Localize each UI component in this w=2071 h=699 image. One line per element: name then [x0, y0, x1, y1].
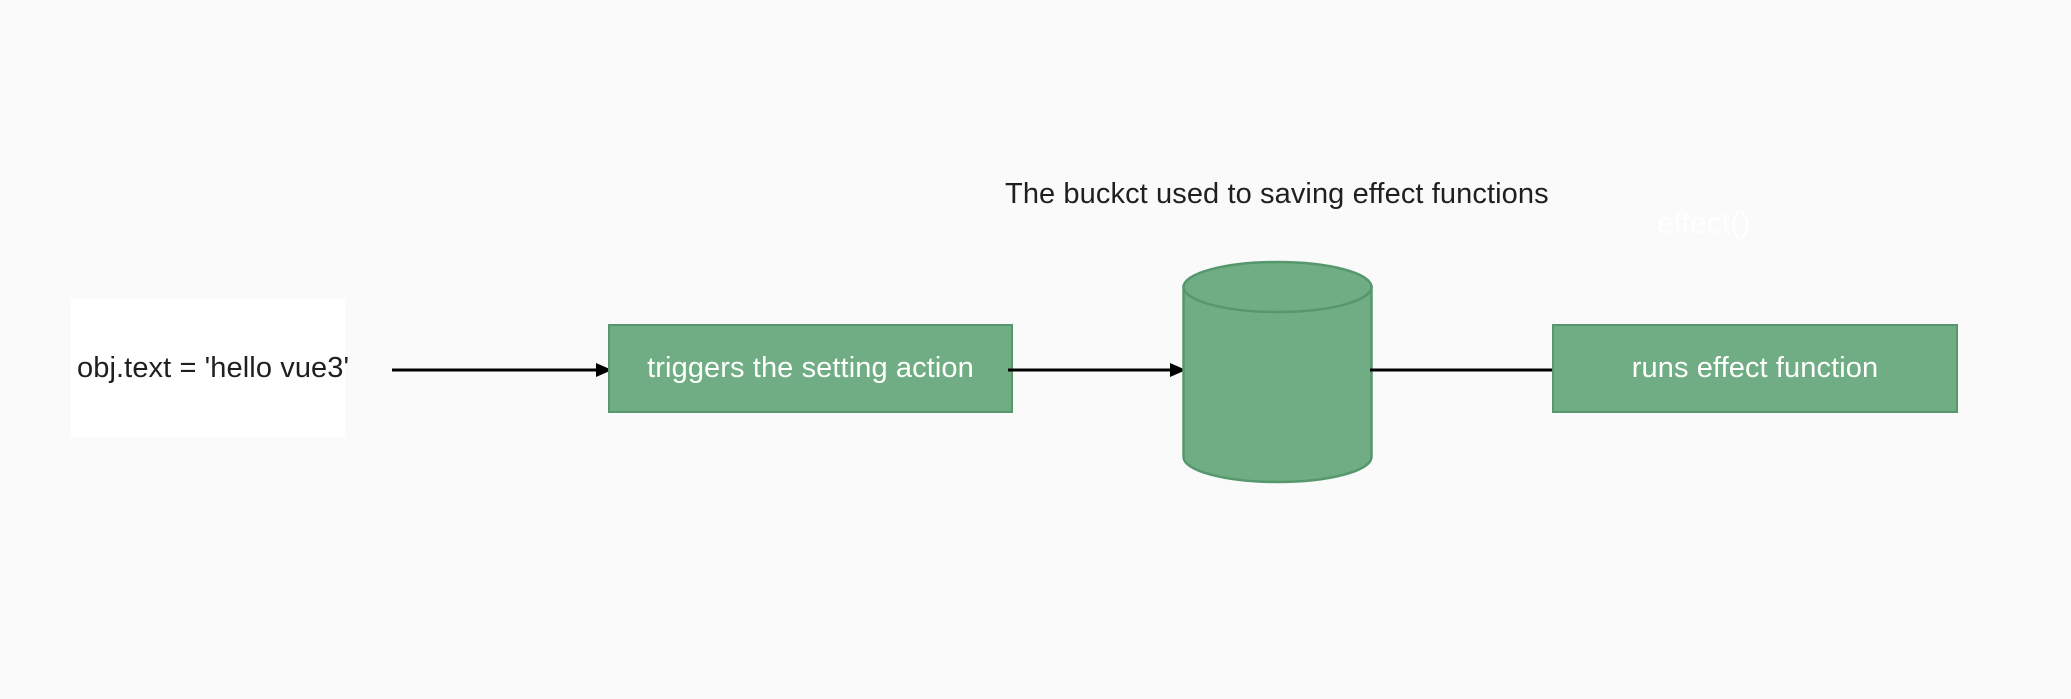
- cylinder-icon: [1182, 262, 1373, 482]
- node-source-label: obj.text = 'hello vue3': [77, 352, 349, 385]
- caption-bucket-description: The buckct used to saving effect functio…: [1005, 178, 1549, 211]
- connector-bucket-to-runs: [1370, 358, 1556, 382]
- cylinder-body: [1184, 287, 1372, 482]
- node-source-assignment[interactable]: obj.text = 'hello vue3': [71, 298, 345, 438]
- node-bucket-cylinder[interactable]: [1182, 262, 1373, 482]
- caption-effect-function: effect(): [1657, 207, 1751, 241]
- cylinder-top: [1184, 262, 1372, 312]
- node-trigger-label: triggers the setting action: [647, 352, 974, 385]
- node-triggers-setting-action[interactable]: triggers the setting action: [608, 324, 1013, 413]
- connector-source-to-trigger: [392, 358, 612, 382]
- diagram-canvas: obj.text = 'hello vue3' triggers the set…: [0, 0, 2071, 699]
- connector-trigger-to-bucket: [1008, 358, 1186, 382]
- node-runs-effect-function[interactable]: runs effect function: [1552, 324, 1958, 413]
- node-runs-label: runs effect function: [1632, 352, 1879, 385]
